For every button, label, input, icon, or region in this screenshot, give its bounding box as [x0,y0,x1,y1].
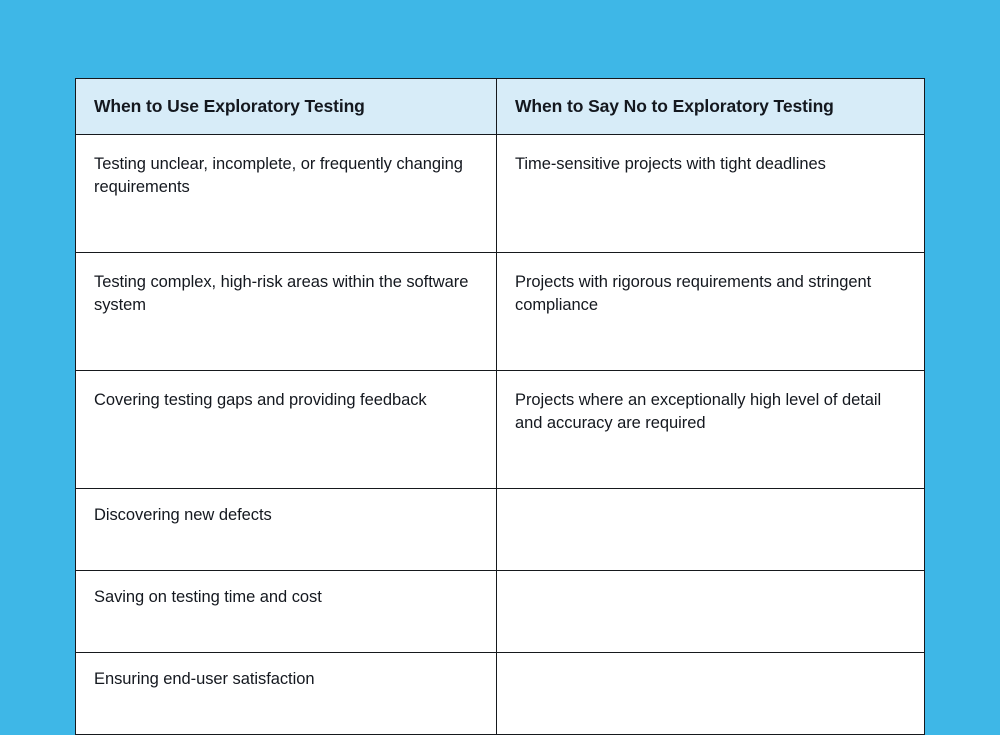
cell-when-to-say-no-5 [497,571,925,653]
column-header-when-to-use-label: When to Use Exploratory Testing [94,96,478,118]
table-header: When to Use Exploratory Testing When to … [76,79,925,135]
page-canvas: When to Use Exploratory Testing When to … [0,0,1000,607]
cell-text: Saving on testing time and cost [94,586,478,609]
cell-text [515,504,906,505]
cell-text: Testing complex, high-risk areas within … [94,271,478,317]
cell-when-to-say-no-1: Time-sensitive projects with tight deadl… [497,135,925,253]
table-row: Testing unclear, incomplete, or frequent… [76,135,925,253]
table-row: Discovering new defects [76,489,925,571]
cell-text: Ensuring end-user satisfaction [94,668,478,691]
table-row: Covering testing gaps and providing feed… [76,371,925,489]
cell-text: Testing unclear, incomplete, or frequent… [94,153,478,199]
cell-when-to-say-no-4 [497,489,925,571]
cell-text: Projects with rigorous requirements and … [515,271,906,317]
table-row: Saving on testing time and cost [76,571,925,653]
cell-text [515,586,906,587]
cell-when-to-use-2: Testing complex, high-risk areas within … [76,253,497,371]
exploratory-testing-comparison-table: When to Use Exploratory Testing When to … [75,78,925,735]
cell-when-to-say-no-2: Projects with rigorous requirements and … [497,253,925,371]
cell-text: Discovering new defects [94,504,478,527]
column-header-when-to-say-no: When to Say No to Exploratory Testing [497,79,925,135]
cell-text [515,668,906,669]
table-row: Ensuring end-user satisfaction [76,653,925,735]
cell-text: Time-sensitive projects with tight deadl… [515,153,906,176]
cell-when-to-use-3: Covering testing gaps and providing feed… [76,371,497,489]
column-header-when-to-use: When to Use Exploratory Testing [76,79,497,135]
cell-text: Projects where an exceptionally high lev… [515,389,906,435]
cell-when-to-use-6: Ensuring end-user satisfaction [76,653,497,735]
table-header-row: When to Use Exploratory Testing When to … [76,79,925,135]
cell-when-to-use-5: Saving on testing time and cost [76,571,497,653]
cell-text: Covering testing gaps and providing feed… [94,389,478,412]
cell-when-to-say-no-6 [497,653,925,735]
table-row: Testing complex, high-risk areas within … [76,253,925,371]
table-body: Testing unclear, incomplete, or frequent… [76,135,925,735]
cell-when-to-say-no-3: Projects where an exceptionally high lev… [497,371,925,489]
cell-when-to-use-4: Discovering new defects [76,489,497,571]
cell-when-to-use-1: Testing unclear, incomplete, or frequent… [76,135,497,253]
column-header-when-to-say-no-label: When to Say No to Exploratory Testing [515,96,906,118]
